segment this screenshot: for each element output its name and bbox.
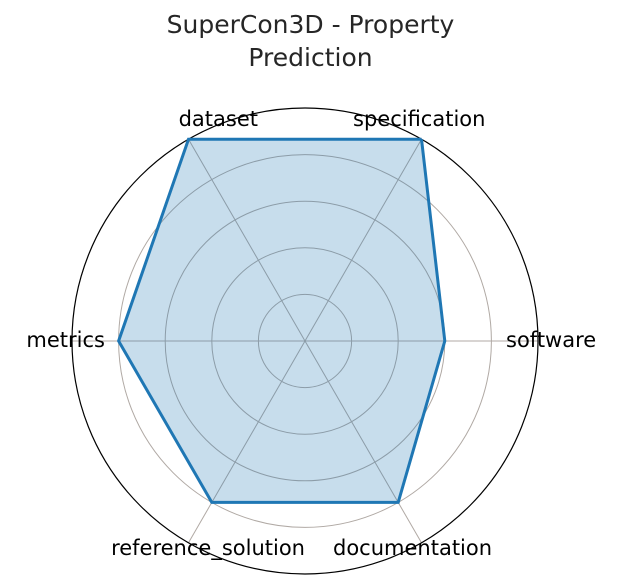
axis-label-text: software (506, 328, 596, 352)
axis-label-reference-solution: reference_solution (111, 538, 305, 559)
axis-label-text: specification (353, 107, 485, 131)
axis-label-specification: specification (353, 109, 485, 130)
axis-label-text: reference_solution (111, 536, 305, 560)
axis-label-text: dataset (179, 107, 258, 131)
axis-label-software: software (506, 330, 596, 351)
axis-label-metrics: metrics (26, 330, 105, 351)
axis-label-text: documentation (333, 536, 492, 560)
series-fill-area (119, 139, 445, 502)
radar-plot-area (0, 0, 621, 581)
axis-label-text: metrics (26, 328, 105, 352)
radar-chart-figure: SuperCon3D - Property Prediction dataset… (0, 0, 621, 581)
axis-label-documentation: documentation (333, 538, 492, 559)
axis-label-dataset: dataset (179, 109, 258, 130)
